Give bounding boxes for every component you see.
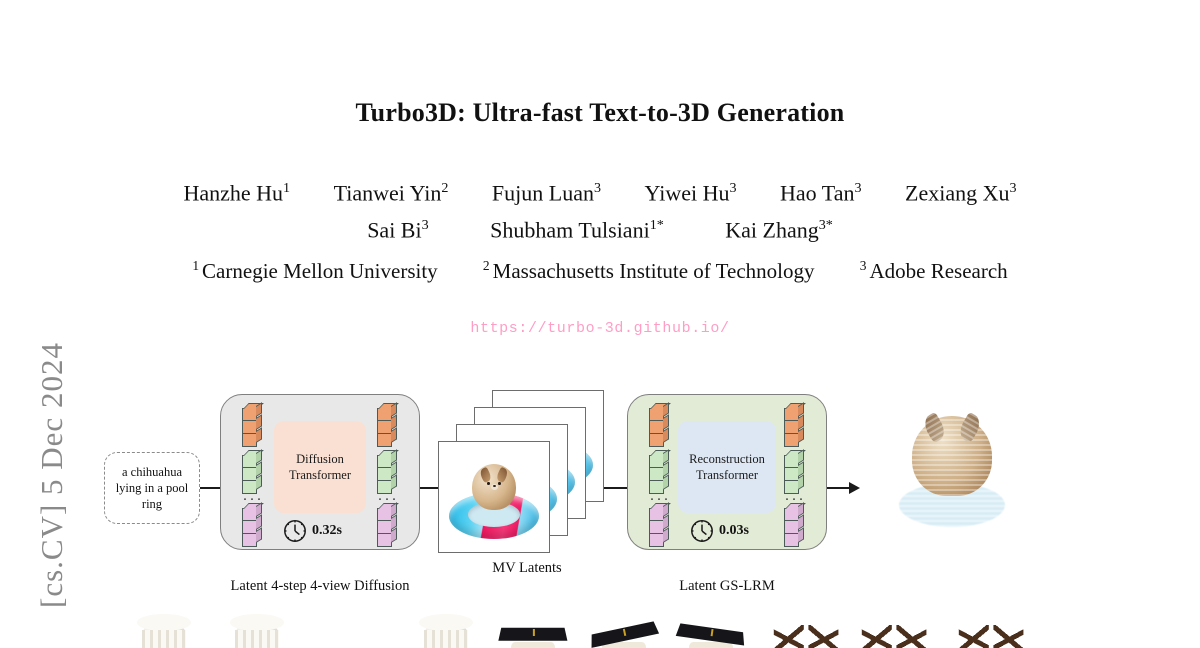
token-stack-pink: [242, 508, 264, 547]
mv-latents-stack: [437, 390, 607, 555]
author-affil-marker: 3: [1009, 180, 1016, 196]
affiliation-name: Carnegie Mellon University: [202, 259, 438, 283]
gallery-item-chef-hat: [118, 606, 210, 648]
connector-prompt-to-diffusion: [200, 487, 222, 489]
token-stack-orange: [784, 408, 806, 447]
author: Yiwei Hu3: [645, 172, 737, 209]
author-name: Zexiang Xu: [905, 180, 1009, 205]
author-name: Tianwei Yin: [334, 180, 442, 205]
author: Tianwei Yin2: [334, 172, 449, 209]
affiliation-name: Adobe Research: [869, 259, 1007, 283]
diffusion-transformer-block: Diffusion Transformer: [274, 421, 366, 513]
affiliation: 2Massachusetts Institute of Technology: [483, 258, 815, 284]
clock-icon: [283, 519, 307, 543]
mv-latent-card: [438, 441, 550, 553]
prompt-textbox: a chihuahua lying in a pool ring: [104, 452, 200, 524]
author-affil-marker: 3: [854, 180, 861, 196]
author-name: Hao Tan: [780, 180, 854, 205]
stage-latent-diffusion: ··· Diffusion Transformer ···: [220, 394, 420, 550]
token-stack-green: [377, 455, 399, 494]
token-column-output-diffusion: ···: [374, 408, 402, 547]
reconstruction-transformer-block: Reconstruction Transformer: [678, 421, 776, 513]
page-title: Turbo3D: Ultra-fast Text-to-3D Generatio…: [0, 98, 1200, 128]
affiliation-marker: 1: [192, 258, 199, 273]
author-affil-marker: 1*: [650, 217, 664, 233]
author-affil-marker: 3: [729, 180, 736, 196]
author-affil-marker: 1: [283, 180, 290, 196]
author-affil-marker: 2: [441, 180, 448, 196]
affiliation-name: Massachusetts Institute of Technology: [493, 259, 815, 283]
diffusion-timing-value: 0.32s: [312, 523, 342, 539]
author: Hao Tan3: [780, 172, 861, 209]
author-name: Shubham Tulsiani: [490, 218, 650, 243]
affiliation-marker: 3: [860, 258, 867, 273]
affiliation: 1Carnegie Mellon University: [192, 258, 437, 284]
token-stack-orange: [377, 408, 399, 447]
clock-icon: [690, 519, 714, 543]
diffusion-transformer-label-line2: Transformer: [289, 467, 351, 483]
reconstruction-transformer-label-line1: Reconstruction: [689, 451, 765, 467]
author-affil-marker: 3: [422, 217, 429, 233]
diffusion-timing: 0.32s: [283, 519, 342, 543]
gallery-item-grad-cap: [665, 606, 757, 648]
token-stack-pink: [377, 508, 399, 547]
token-stack-orange: [649, 408, 671, 447]
token-stack-pink: [649, 508, 671, 547]
token-stack-green: [242, 455, 264, 494]
author: Hanzhe Hu1: [183, 172, 290, 209]
token-column-output-recon: ···: [781, 408, 809, 547]
author-name: Sai Bi: [367, 218, 421, 243]
token-stack-orange: [242, 408, 264, 447]
gallery-item-grad-cap: [578, 606, 670, 648]
author-block: Hanzhe Hu1 Tianwei Yin2 Fujun Luan3 Yiwe…: [0, 172, 1200, 247]
affiliation: 3Adobe Research: [860, 258, 1008, 284]
recon-timing: 0.03s: [690, 519, 749, 543]
token-column-input-recon: ···: [646, 408, 674, 547]
author-name: Fujun Luan: [492, 180, 594, 205]
gaussian-splat-output: [862, 400, 1042, 560]
token-column-input-diffusion: ···: [239, 408, 267, 547]
affiliation-marker: 2: [483, 258, 490, 273]
recon-timing-value: 0.03s: [719, 523, 749, 539]
author: Shubham Tulsiani1*: [490, 209, 664, 246]
gallery-item-antlers: [760, 606, 852, 648]
gallery-item-chef-hat: [211, 606, 303, 648]
gallery-item-grad-cap: [487, 606, 579, 648]
gallery-item-chef-hat: [400, 606, 492, 648]
author-name: Kai Zhang: [725, 218, 818, 243]
caption-latent-gslrm: Latent GS-LRM: [627, 578, 827, 595]
token-stack-green: [784, 455, 806, 494]
author-name: Yiwei Hu: [645, 180, 730, 205]
connector-mv-to-recon: [604, 487, 628, 489]
caption-latent-diffusion: Latent 4-step 4-view Diffusion: [220, 578, 420, 595]
author: Fujun Luan3: [492, 172, 601, 209]
gallery-item-antlers: [848, 606, 940, 648]
token-stack-pink: [784, 508, 806, 547]
author-name: Hanzhe Hu: [183, 180, 283, 205]
author-row-1: Hanzhe Hu1 Tianwei Yin2 Fujun Luan3 Yiwe…: [0, 172, 1200, 209]
connector-recon-to-output: [827, 487, 851, 489]
token-stack-green: [649, 455, 671, 494]
diffusion-transformer-label-line1: Diffusion: [296, 451, 344, 467]
author-row-2: Sai Bi3 Shubham Tulsiani1* Kai Zhang3*: [0, 209, 1200, 246]
author-affil-marker: 3: [594, 180, 601, 196]
stage-latent-gslrm: ··· Reconstruction Transformer: [627, 394, 827, 550]
project-url-link[interactable]: https://turbo-3d.github.io/: [0, 320, 1200, 337]
reconstruction-transformer-label-line2: Transformer: [696, 467, 758, 483]
author: Zexiang Xu3: [905, 172, 1017, 209]
gallery-item-antlers: [945, 606, 1037, 648]
author: Sai Bi3: [367, 209, 428, 246]
author: Kai Zhang3*: [725, 209, 833, 246]
arrow-head-icon: [849, 482, 860, 494]
gallery-row: [0, 606, 1200, 648]
caption-mv-latents: MV Latents: [437, 560, 617, 577]
author-affil-marker: 3*: [819, 217, 833, 233]
affiliation-block: 1Carnegie Mellon University 2Massachuset…: [0, 258, 1200, 284]
